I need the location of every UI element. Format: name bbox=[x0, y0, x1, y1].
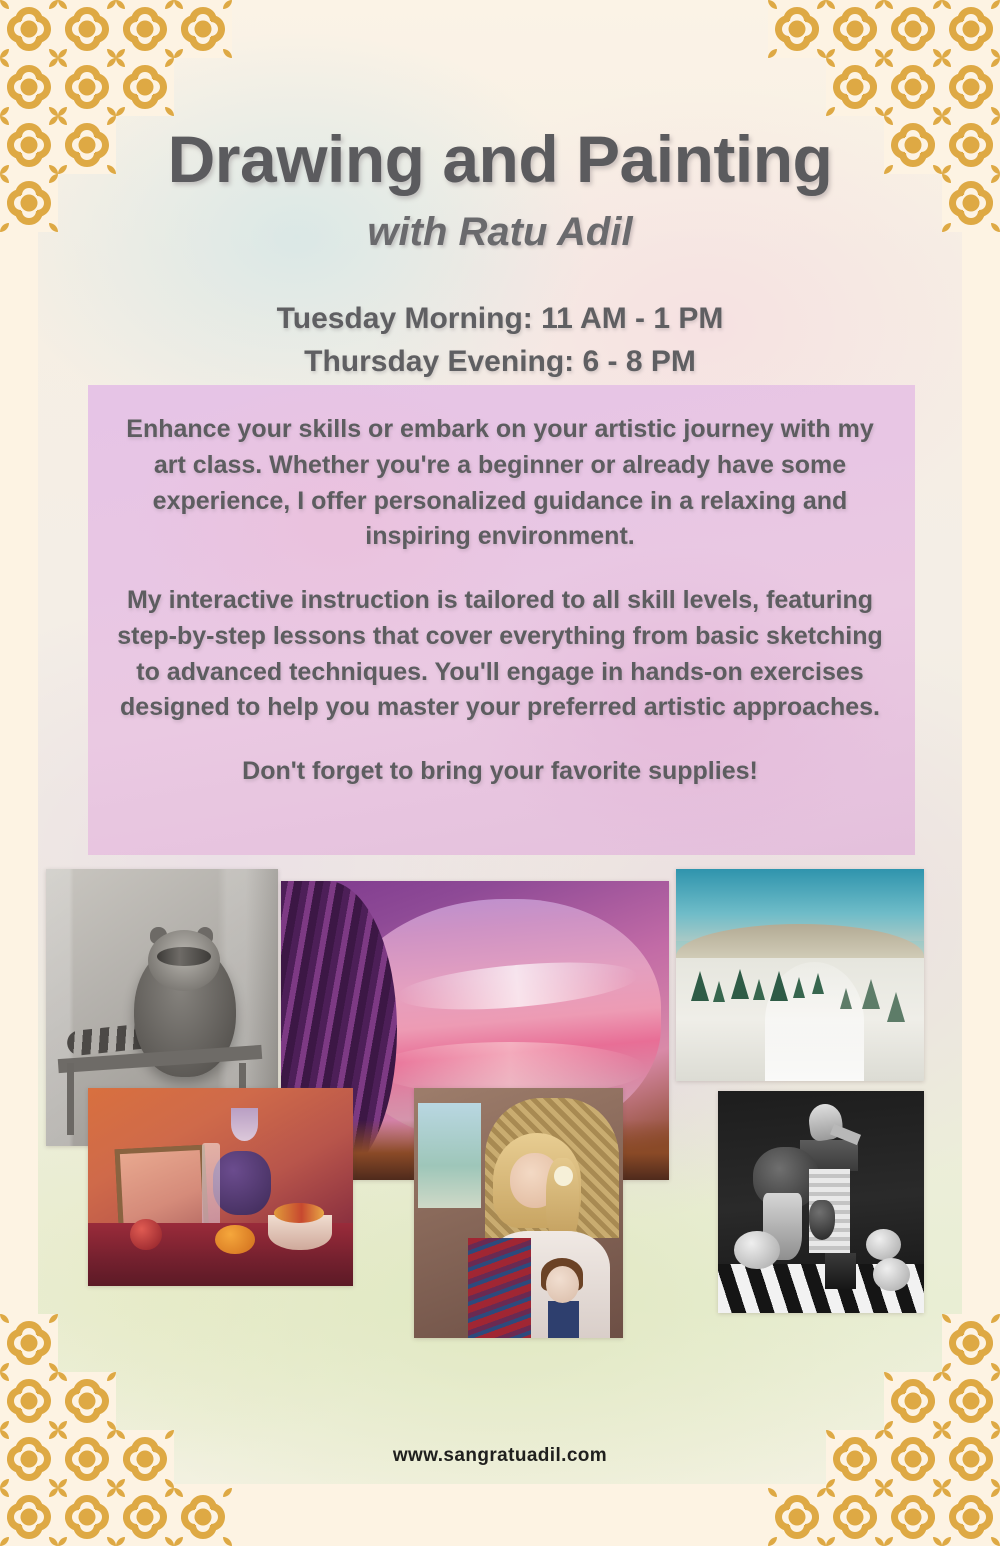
poster-subtitle: with Ratu Adil bbox=[0, 212, 1000, 252]
mono-pumpkin bbox=[734, 1231, 779, 1269]
still-life-bottle bbox=[202, 1143, 221, 1230]
description-paragraph-3: Don't forget to bring your favorite supp… bbox=[108, 754, 892, 790]
snow-tree bbox=[793, 977, 805, 998]
bottom-margin bbox=[0, 1484, 1000, 1546]
portrait-window bbox=[418, 1103, 481, 1208]
snow-tree bbox=[731, 969, 749, 999]
portrait-patterned-shawl bbox=[468, 1238, 531, 1338]
still-life-bowl-fruit bbox=[274, 1203, 324, 1223]
description-paragraph-2: My interactive instruction is tailored t… bbox=[108, 583, 892, 726]
portrait-doll-head bbox=[546, 1266, 579, 1304]
snow-tree bbox=[753, 979, 765, 1000]
poster-canvas: Drawing and Painting with Ratu Adil Tues… bbox=[0, 0, 1000, 1546]
snow-tree bbox=[887, 992, 905, 1022]
still-life-grapes bbox=[213, 1151, 271, 1214]
raccoon-eye-mask bbox=[157, 947, 210, 966]
footer-website[interactable]: www.sangratuadil.com bbox=[0, 1445, 1000, 1467]
schedule-line-thursday: Thursday Evening: 6 - 8 PM bbox=[0, 341, 1000, 384]
mono-pumpkin bbox=[873, 1258, 910, 1291]
description-paragraph-1: Enhance your skills or embark on your ar… bbox=[108, 412, 892, 555]
schedule-block: Tuesday Morning: 11 AM - 1 PM Thursday E… bbox=[0, 298, 1000, 383]
portrait-hair-flower bbox=[554, 1166, 573, 1186]
snow-tree bbox=[812, 973, 824, 994]
gallery-image-girl-with-doll-portrait bbox=[414, 1088, 623, 1338]
snow-tree bbox=[713, 981, 725, 1002]
snow-tree bbox=[691, 971, 709, 1001]
gallery-image-red-still-life-painting bbox=[88, 1088, 353, 1286]
snow-tree bbox=[862, 979, 880, 1009]
gallery-image-snowy-landscape-painting bbox=[676, 869, 924, 1081]
portrait-doll-body bbox=[548, 1301, 579, 1339]
mono-pumpkin bbox=[866, 1229, 901, 1260]
schedule-line-tuesday: Tuesday Morning: 11 AM - 1 PM bbox=[0, 298, 1000, 341]
raccoon-table-leg-left bbox=[67, 1063, 74, 1135]
poster-title: Drawing and Painting bbox=[0, 126, 1000, 192]
description-text: Enhance your skills or embark on your ar… bbox=[108, 412, 892, 790]
mono-berry-bucket bbox=[825, 1253, 856, 1289]
mono-grapes bbox=[809, 1200, 836, 1240]
snow-tree bbox=[840, 988, 852, 1009]
still-life-orange bbox=[215, 1225, 255, 1255]
still-life-goblet bbox=[231, 1108, 258, 1142]
gallery-image-monochrome-still-life-painting bbox=[718, 1091, 924, 1313]
snow-tree bbox=[770, 971, 788, 1001]
